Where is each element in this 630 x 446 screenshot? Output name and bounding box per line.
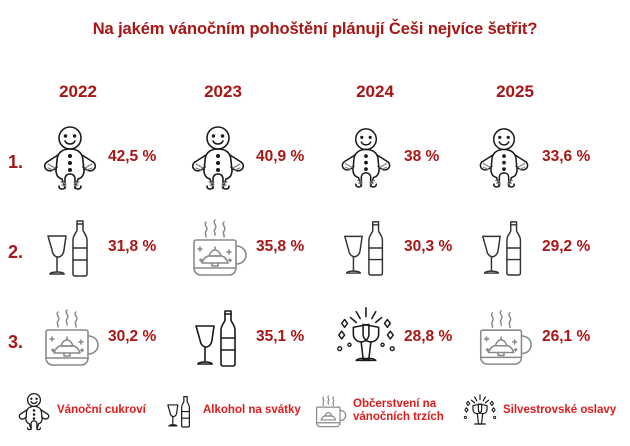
percentage-value: 35,8 % [256,238,304,256]
legend-label: Vánoční cukroví [57,404,146,417]
cell-2023-rank1: 40,9 % [182,112,304,202]
percentage-value: 42,5 % [108,148,156,166]
cell-2023-rank3: 35,1 % [182,292,304,382]
wine-bottle-glass-icon [182,301,254,373]
gingerbread-man-icon [182,121,254,193]
cell-2025-rank1: 33,6 % [468,112,590,202]
percentage-value: 30,3 % [404,238,452,256]
champagne-toast-icon [330,301,402,373]
legend-item-obcerstveni-na-vanocnich-trzich: Občerstvení na vánočních trzích [310,386,471,436]
cell-2024-rank2: 30,3 % [330,202,452,292]
page-title: Na jakém vánočním pohoštění plánují Češi… [0,20,630,39]
percentage-value: 30,2 % [108,328,156,346]
year-label-2024: 2024 [330,82,420,102]
percentage-value: 35,1 % [256,328,304,346]
rank-number: 1. [8,152,23,173]
gingerbread-man-icon [34,121,106,193]
christmas-mug-icon [34,301,106,373]
gingerbread-man-icon [468,121,540,193]
rank-number: 2. [8,242,23,263]
percentage-value: 31,8 % [108,238,156,256]
percentage-value: 40,9 % [256,148,304,166]
wine-bottle-glass-icon [34,211,106,283]
legend: Vánoční cukroví Alkohol na svátky [0,386,630,442]
ranking-rows: 1. [0,112,630,382]
gingerbread-man-icon [14,389,54,433]
year-header-row: 2022 2023 2024 2025 [0,82,630,106]
cell-2022-rank1: 42,5 % [34,112,156,202]
christmas-mug-icon [468,301,540,373]
cell-2024-rank1: 38 % [330,112,439,202]
year-label-2022: 2022 [33,82,123,102]
christmas-mug-icon [182,211,254,283]
christmas-mug-icon [310,389,350,433]
legend-label: Občerstvení na vánočních trzích [353,398,471,424]
legend-label: Alkohol na svátky [203,404,301,417]
legend-item-silvestrovske-oslavy: Silvestrovské oslavy [460,386,616,436]
cell-2024-rank3: 28,8 % [330,292,452,382]
cell-2023-rank2: 35,8 % [182,202,304,292]
percentage-value: 26,1 % [542,328,590,346]
rank-number: 3. [8,332,23,353]
year-label-2023: 2023 [178,82,268,102]
wine-bottle-glass-icon [330,211,402,283]
cell-2025-rank3: 26,1 % [468,292,590,382]
percentage-value: 28,8 % [404,328,452,346]
table-row: 1. [0,112,630,202]
percentage-value: 33,6 % [542,148,590,166]
legend-item-vanocni-cukrovi: Vánoční cukroví [14,386,146,436]
wine-bottle-glass-icon [160,389,200,433]
year-label-2025: 2025 [470,82,560,102]
legend-item-alkohol-na-svatky: Alkohol na svátky [160,386,301,436]
cell-2022-rank3: 30,2 % [34,292,156,382]
percentage-value: 38 % [404,148,439,166]
cell-2022-rank2: 31,8 % [34,202,156,292]
legend-label: Silvestrovské oslavy [503,404,616,417]
champagne-toast-icon [460,389,500,433]
cell-2025-rank2: 29,2 % [468,202,590,292]
wine-bottle-glass-icon [468,211,540,283]
gingerbread-man-icon [330,121,402,193]
table-row: 3. [0,292,630,382]
table-row: 2. 31,8 % [0,202,630,292]
percentage-value: 29,2 % [542,238,590,256]
